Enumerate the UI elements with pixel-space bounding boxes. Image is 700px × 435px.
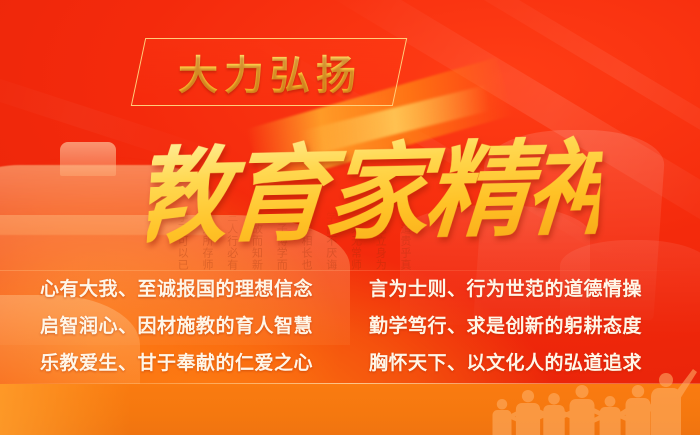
slogan-grid: 心有大我、至诚报国的理想信念 言为士则、行为世范的道德情操 启智润心、因材施教的… xyxy=(40,272,666,380)
slogan-right-2: 勤学笃行、求是创新的躬耕态度 xyxy=(361,309,666,343)
slogan-right-1: 言为士则、行为世范的道德情操 xyxy=(361,272,666,306)
promo-banner: 此道贵乎真 以德立身为 圣人无常师 学而不厌诲 教学相长也 君子博学而 温故而知… xyxy=(0,0,700,435)
headline-badge-label: 大力弘扬 xyxy=(152,40,388,104)
slogan-right-3: 胸怀天下、以文化人的弘道追求 xyxy=(361,346,666,380)
slogan-left-3: 乐教爱生、甘于奉献的仁爱之心 xyxy=(40,346,345,380)
slogan-left-2: 启智润心、因材施教的育人智慧 xyxy=(40,309,345,343)
divider-line xyxy=(0,270,700,271)
decorative-inkstone-shape xyxy=(60,142,116,176)
slogan-left-1: 心有大我、至诚报国的理想信念 xyxy=(40,272,345,306)
bottom-band-glow xyxy=(0,384,130,435)
page-title: 教育家精神 xyxy=(146,127,605,258)
